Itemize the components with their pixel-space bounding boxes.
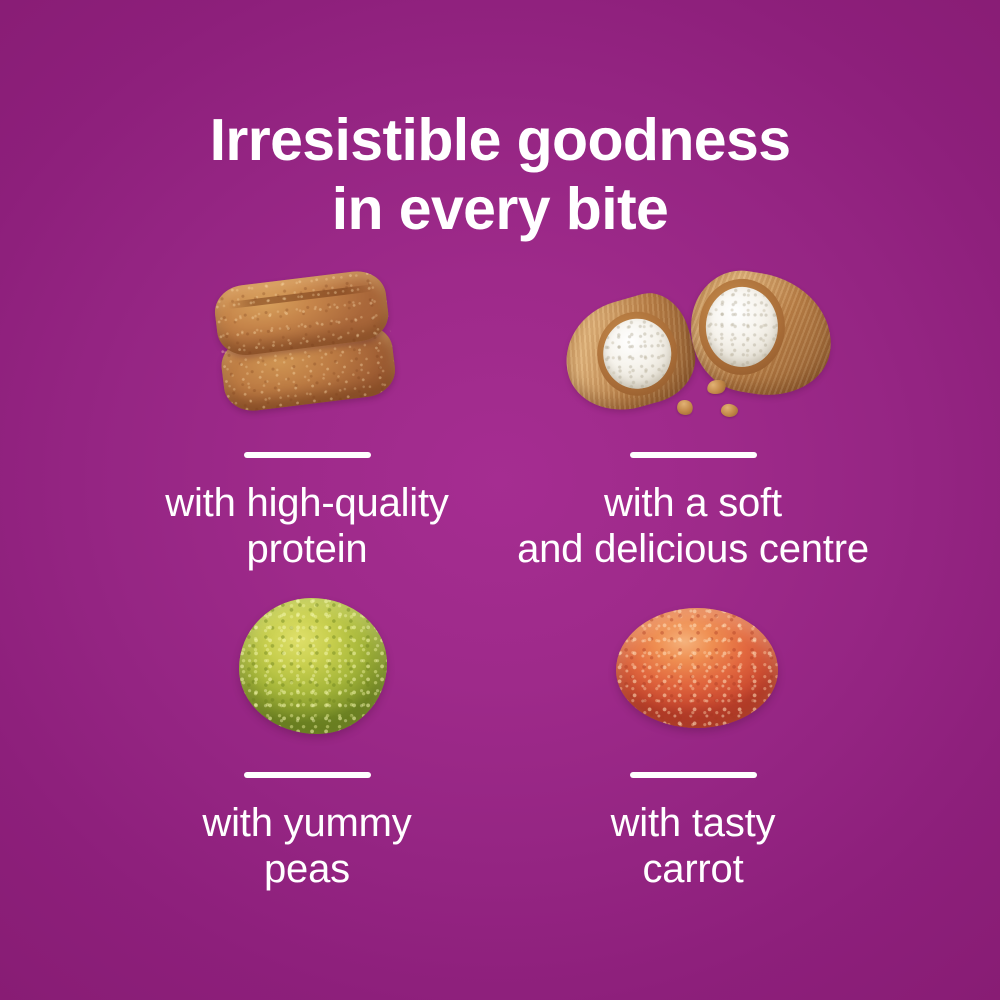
feature-item-peas: with yummy peas [87, 580, 527, 893]
protein-kibble-image [87, 262, 527, 442]
pea-kibble-image [87, 580, 527, 760]
feature-caption: with a soft and delicious centre [473, 480, 913, 573]
feature-divider [630, 772, 757, 778]
orange-carrot-kibble-icon [616, 608, 778, 728]
feature-item-centre: with a soft and delicious centre [473, 262, 913, 573]
feature-divider [244, 452, 371, 458]
promo-poster: Irresistible goodness in every bite with… [0, 0, 1000, 1000]
carrot-kibble-image [473, 580, 913, 760]
brown-kibble-piece-icon [212, 268, 398, 414]
feature-caption: with tasty carrot [473, 800, 913, 893]
feature-divider [630, 452, 757, 458]
broken-kibble-with-cream-centre-icon [565, 268, 830, 418]
crumb-icon [706, 378, 727, 396]
feature-caption: with yummy peas [87, 800, 527, 893]
green-pea-kibble-icon [239, 598, 387, 734]
feature-item-carrot: with tasty carrot [473, 580, 913, 893]
centre-kibble-image [473, 262, 913, 442]
crumb-icon [675, 398, 695, 418]
feature-divider [244, 772, 371, 778]
feature-grid: with high-quality protein [0, 0, 1000, 1000]
crumb-icon [720, 403, 739, 418]
feature-item-protein: with high-quality protein [87, 262, 527, 573]
feature-caption: with high-quality protein [87, 480, 527, 573]
